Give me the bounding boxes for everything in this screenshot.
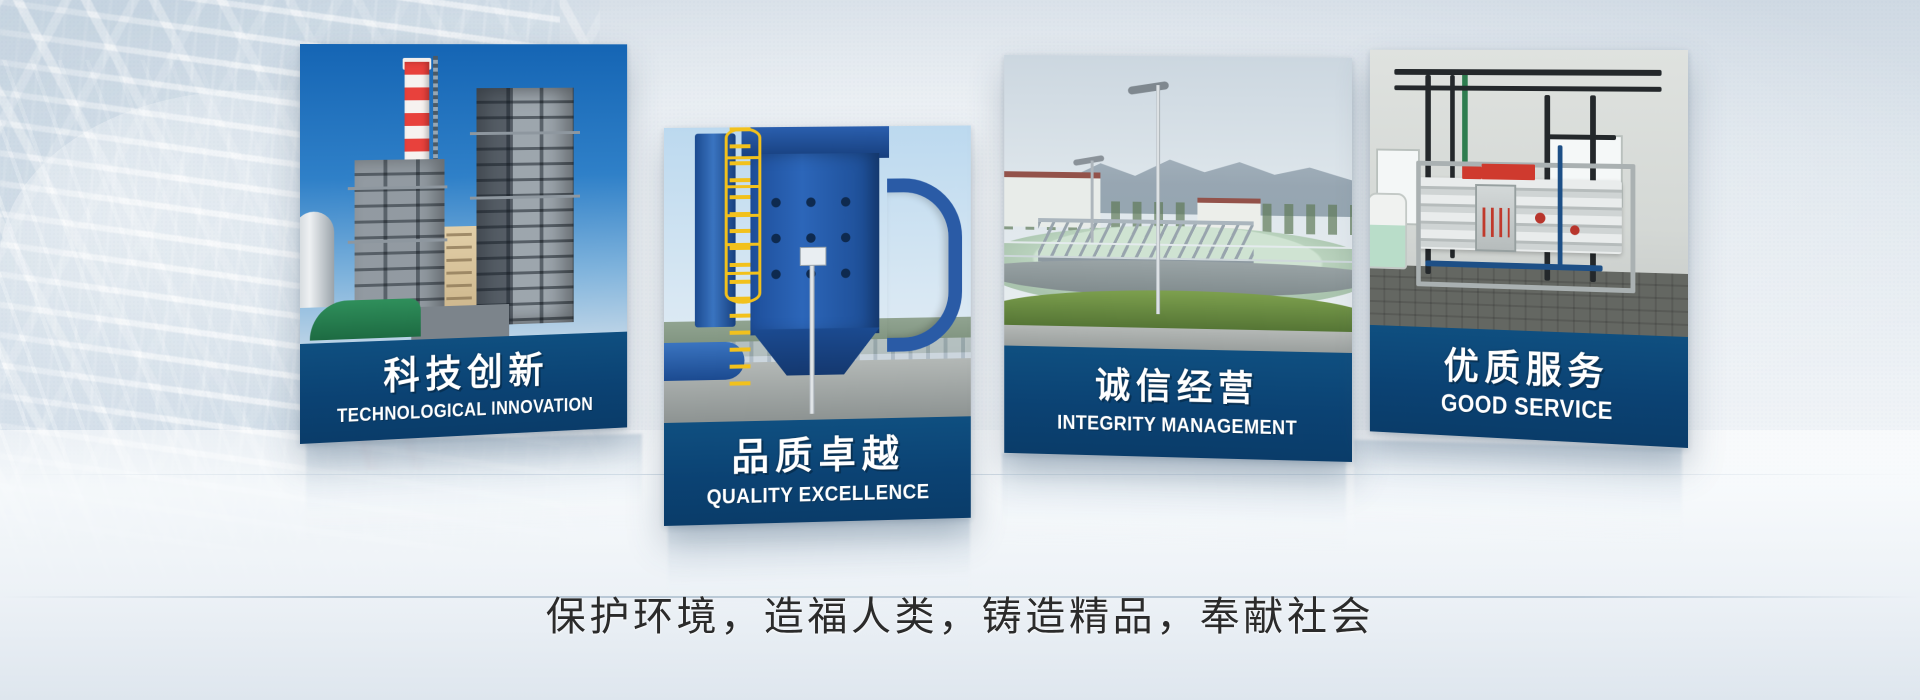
panel-3-caption: 诚信经营 INTEGRITY MANAGEMENT	[1004, 345, 1352, 462]
scene-wastewater-plant	[1004, 55, 1352, 353]
panel-3-title-cn: 诚信经营	[1095, 369, 1259, 409]
panel-4-title-en: GOOD SERVICE	[1441, 391, 1613, 424]
panel-2-title-cn: 品质卓越	[731, 434, 904, 476]
scene-industrial-towers	[300, 44, 627, 344]
panel-2-caption: 品质卓越 QUALITY EXCELLENCE	[664, 416, 971, 526]
instrument-pole	[809, 250, 814, 414]
scene-dust-collector	[664, 125, 971, 422]
panel-4-title-cn: 优质服务	[1444, 347, 1610, 391]
pulse-valves	[757, 185, 874, 292]
panel-integrity-management[interactable]: 诚信经营 INTEGRITY MANAGEMENT	[1004, 55, 1352, 462]
dosing-tank	[1370, 193, 1407, 269]
panel-2-photo	[664, 125, 971, 422]
panel-1-photo	[300, 44, 627, 344]
panel-3-title-en: INTEGRITY MANAGEMENT	[1057, 413, 1297, 439]
panel-1-title-cn: 科技创新	[383, 351, 549, 395]
banner-tagline: 保护环境，造福人类，铸造精品，奉献社会	[0, 584, 1920, 642]
red-label-small	[1463, 167, 1482, 180]
panel-quality-excellence[interactable]: 品质卓越 QUALITY EXCELLENCE	[664, 125, 971, 526]
overhead-pipe-1	[1394, 69, 1661, 76]
valve-2	[1570, 225, 1580, 235]
blue-pipe-vertical	[1558, 146, 1563, 270]
promotional-banner: 科技创新 TECHNOLOGICAL INNOVATION	[0, 0, 1920, 700]
panel-4-photo	[1370, 50, 1688, 337]
yellow-ladder	[729, 127, 751, 386]
panel-good-service[interactable]: 优质服务 GOOD SERVICE	[1370, 50, 1688, 448]
panel-3-photo	[1004, 55, 1352, 353]
panel-1-title-en: TECHNOLOGICAL INNOVATION	[337, 395, 593, 426]
tower-right-shadow	[477, 88, 513, 326]
ground-structure	[411, 304, 509, 340]
lamp-post-1	[1156, 86, 1160, 314]
panel-1-caption: 科技创新 TECHNOLOGICAL INNOVATION	[300, 332, 627, 444]
skid-frame	[1416, 160, 1635, 293]
panel-4-caption: 优质服务 GOOD SERVICE	[1370, 324, 1688, 448]
cross-pipe-1	[1545, 134, 1616, 140]
panel-2-title-en: QUALITY EXCELLENCE	[706, 481, 929, 508]
red-label	[1481, 164, 1535, 180]
return-duct	[887, 178, 961, 352]
panel-technological-innovation[interactable]: 科技创新 TECHNOLOGICAL INNOVATION	[300, 44, 627, 444]
control-cabinet	[1475, 184, 1517, 253]
control-box	[800, 246, 827, 266]
scene-ro-water-treatment	[1370, 50, 1688, 337]
storage-tank	[300, 211, 334, 308]
lamp-post-2	[1090, 161, 1093, 243]
